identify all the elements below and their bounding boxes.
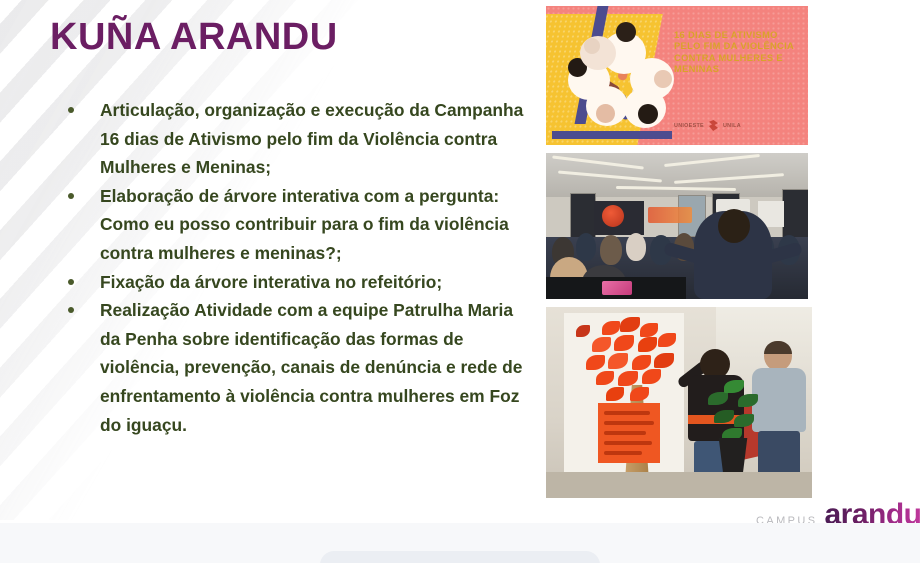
photo3-manB-hair (764, 341, 792, 354)
page-title: KUÑA ARANDU (50, 16, 338, 59)
poster-illustration (568, 20, 676, 132)
list-item-text: Realização Atividade com a equipe Patrul… (100, 300, 522, 434)
photo3-floor (546, 472, 812, 498)
poster-logo-right-text: UNILA (723, 123, 741, 129)
presentation-slide: KUÑA ARANDU Articulação, organização e e… (0, 0, 920, 563)
poster-logo-row: UNIOESTE UNILA (674, 120, 794, 131)
list-item-text: Articulação, organização e execução da C… (100, 100, 523, 177)
bullet-dot-icon (68, 193, 74, 199)
bottom-toolbar-handle[interactable] (320, 551, 600, 563)
list-item-text: Elaboração de árvore interativa com a pe… (100, 186, 509, 263)
list-item: Fixação da árvore interativa no refeitór… (58, 268, 528, 297)
campaign-poster-image: 16 DIAS DE ATIVISMO PELO FIM DA VIOLÊNCI… (546, 6, 808, 145)
bullet-dot-icon (68, 279, 74, 285)
photo2-pink-notebook (602, 281, 632, 295)
bullet-dot-icon (68, 107, 74, 113)
list-item-text: Fixação da árvore interativa no refeitór… (100, 272, 442, 292)
poster-blue-base (552, 131, 672, 139)
photo2-speaker-head (718, 209, 750, 243)
photo3-potted-plant-leaves (704, 374, 762, 446)
interactive-tree-photo (546, 307, 812, 498)
bullet-list: Articulação, organização e execução da C… (58, 96, 528, 439)
poster-logo-mark-icon (709, 120, 718, 131)
photo2-orange-banner (648, 207, 692, 223)
image-column: 16 DIAS DE ATIVISMO PELO FIM DA VIOLÊNCI… (546, 6, 812, 498)
classroom-talk-photo (546, 153, 808, 299)
poster-logo-left-text: UNIOESTE (674, 123, 704, 129)
photo3-orange-sign (598, 403, 660, 463)
bullet-dot-icon (68, 307, 74, 313)
list-item: Elaboração de árvore interativa com a pe… (58, 182, 528, 268)
list-item: Articulação, organização e execução da C… (58, 96, 528, 182)
photo2-red-circle (602, 205, 624, 227)
poster-headline: 16 DIAS DE ATIVISMO PELO FIM DA VIOLÊNCI… (674, 30, 804, 76)
list-item: Realização Atividade com a equipe Patrul… (58, 296, 528, 439)
